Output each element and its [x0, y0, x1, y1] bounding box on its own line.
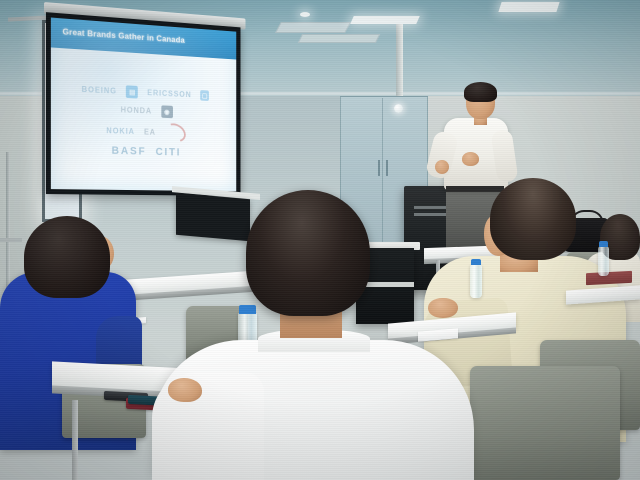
projection-screen: Great Brands Gather in Canada BOEING ▤ E…: [44, 2, 246, 200]
bottle-cap: [471, 259, 481, 265]
closet-handle[interactable]: [386, 160, 388, 176]
ibm-tile-logo: ▤: [126, 85, 138, 98]
floor-stand-pole: [6, 152, 10, 302]
lectern-handle: [414, 213, 448, 216]
chair-foreground-right[interactable]: [470, 366, 620, 480]
wall-board: [176, 193, 250, 241]
water-bottle[interactable]: [598, 246, 609, 276]
ge-tile-logo: ◉: [161, 105, 173, 118]
attendee-man-front-hand: [168, 378, 202, 402]
logo-row: HONDA ◉: [59, 101, 230, 121]
red-folder[interactable]: [586, 271, 632, 285]
slide-logo-grid: BOEING ▤ ERICSSON ▢ HONDA ◉ NOKIA EA: [51, 47, 236, 191]
bottle-cap: [239, 305, 256, 314]
bottle-cap: [599, 241, 608, 247]
logo-row: BOEING ▤ ERICSSON ▢: [59, 82, 230, 103]
logo-row: BASF CITI: [59, 143, 230, 159]
ceiling-light-panel: [498, 2, 559, 12]
honda-logo: HONDA: [121, 105, 152, 115]
citi-logo: CITI: [156, 146, 182, 158]
lectern-handle: [414, 206, 448, 209]
ceiling-light-panel: [350, 16, 420, 24]
water-bottle[interactable]: [470, 264, 482, 298]
floor-stand-arm: [0, 238, 22, 242]
closet-door-split: [382, 98, 383, 244]
attendee-man-right-hand: [428, 298, 458, 318]
logo-row: NOKIA EA: [59, 120, 230, 143]
basf-logo: BASF: [112, 145, 147, 158]
downlight-icon: [300, 12, 310, 17]
ea-logo: EA: [144, 127, 156, 136]
ericsson-logo: ERICSSON: [147, 88, 191, 99]
attendee-woman-left-hair: [24, 216, 110, 298]
air-vent-icon: [298, 34, 380, 43]
attendee-man-right-hair: [490, 178, 576, 260]
nokia-logo: NOKIA: [106, 126, 135, 136]
red-swoosh-logo: [162, 120, 188, 146]
desk-leg: [72, 400, 78, 480]
wall-light-icon: [394, 104, 403, 113]
tile-logo: ▢: [200, 90, 209, 101]
presenter-belt: [446, 186, 504, 192]
closet-handle[interactable]: [378, 160, 380, 176]
presenter-hair: [464, 82, 497, 102]
presenter-right-hand: [462, 152, 479, 166]
boeing-logo: BOEING: [82, 85, 117, 96]
attendee-man-front-hair: [246, 190, 370, 316]
air-vent-icon: [275, 22, 351, 33]
presentation-slide: Great Brands Gather in Canada BOEING ▤ E…: [51, 18, 236, 192]
screen-frame: Great Brands Gather in Canada BOEING ▤ E…: [46, 12, 240, 196]
conference-room-photo: Great Brands Gather in Canada BOEING ▤ E…: [0, 0, 640, 480]
presenter-left-hand: [435, 160, 449, 174]
